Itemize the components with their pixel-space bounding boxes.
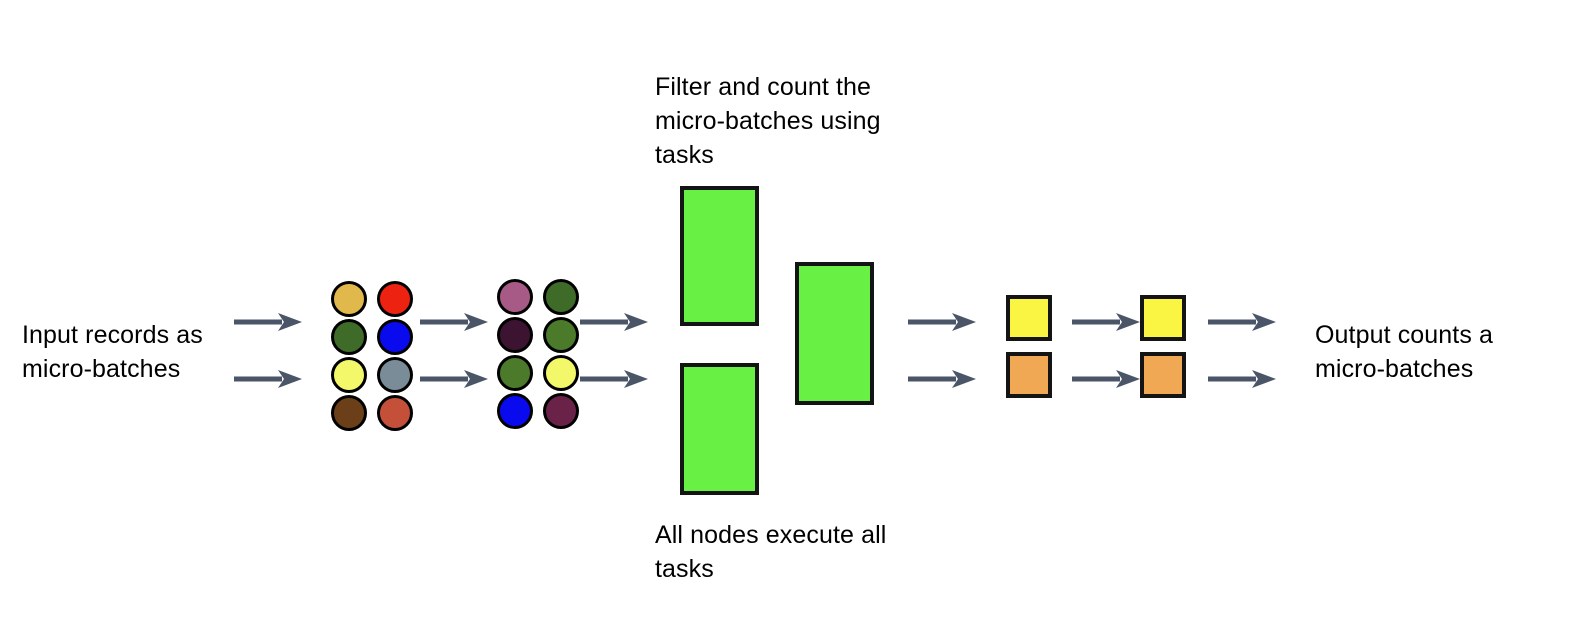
arrow-output-top [1206,309,1280,335]
diagram-canvas: Input records as micro-batches Filter an… [0,0,1592,624]
record-mauve [497,279,533,315]
arrow-tasks-out-top [906,309,980,335]
top-note-label: Filter and count the micro-batches using… [655,70,945,172]
task-node-top-left [680,186,759,326]
task-node-middle [795,262,874,405]
count-square-yellow-2 [1140,295,1186,341]
count-square-yellow-1 [1006,295,1052,341]
count-square-orange-1 [1006,352,1052,398]
record-blue [497,393,533,429]
record-blue [377,319,413,355]
arrow-output-bottom [1206,366,1280,392]
arrow-between-counts-bottom [1070,366,1144,392]
arrow-to-tasks-bottom [578,366,652,392]
record-red [377,281,413,317]
record-yellow [543,355,579,391]
arrow-input-bottom [232,366,306,392]
arrow-between-counts-top [1070,309,1144,335]
arrow-shuffle-top [418,309,492,335]
output-label: Output counts a micro-batches [1315,318,1585,386]
arrow-tasks-out-bottom [906,366,980,392]
arrow-input-top [232,309,306,335]
record-dark-plum [497,317,533,353]
bottom-note-label: All nodes execute all tasks [655,518,955,586]
record-slate [377,357,413,393]
input-label: Input records as micro-batches [22,318,252,386]
record-brick [377,395,413,431]
count-square-orange-2 [1140,352,1186,398]
record-olive [331,319,367,355]
record-yellow [331,357,367,393]
arrow-shuffle-bottom [418,366,492,392]
arrow-to-tasks-top [578,309,652,335]
record-olive [543,279,579,315]
record-brown [331,395,367,431]
task-node-bottom-left [680,363,759,495]
record-maroon [543,393,579,429]
record-gold [331,281,367,317]
record-olive [497,355,533,391]
record-olive [543,317,579,353]
